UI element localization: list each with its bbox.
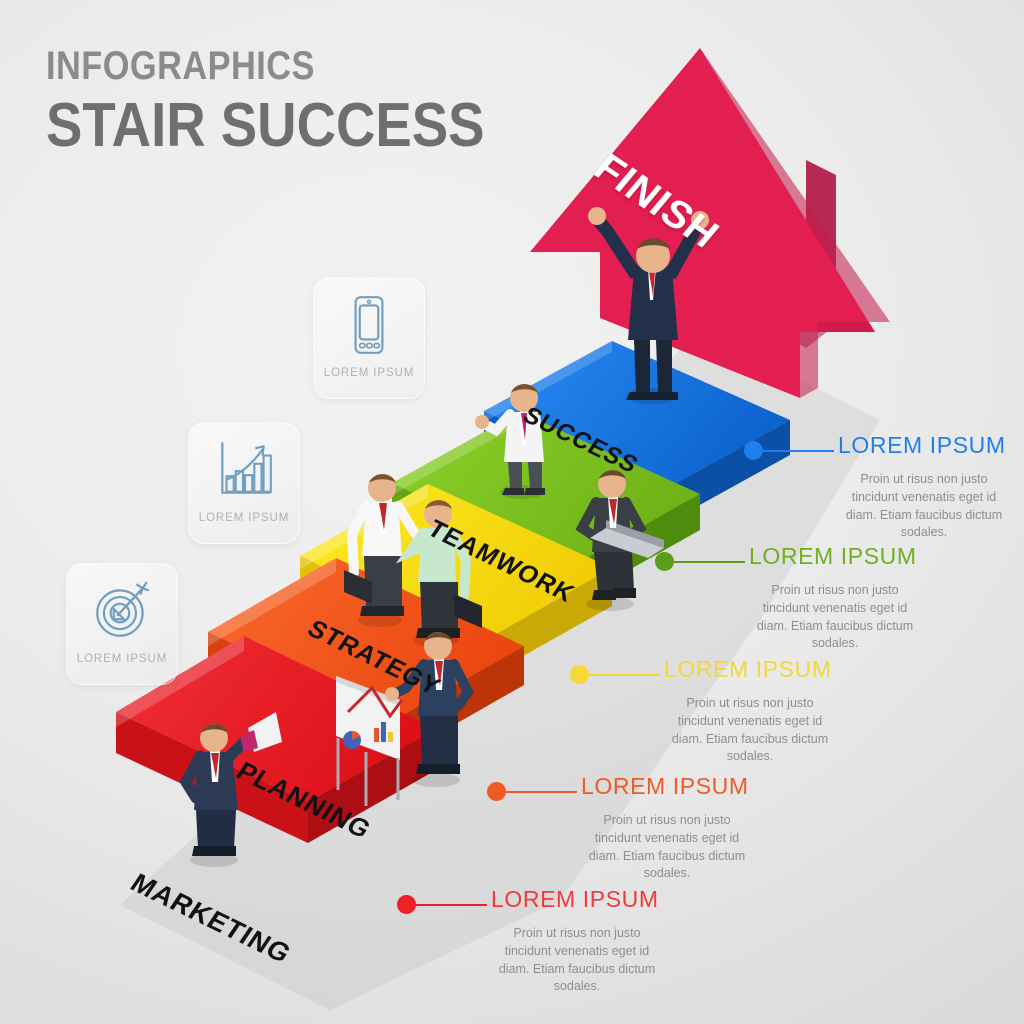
- legend-line-orange: [505, 791, 577, 793]
- legend-dot-yellow: [570, 665, 589, 684]
- legend-dot-orange: [487, 782, 506, 801]
- legend-line-yellow: [588, 674, 660, 676]
- legend-dot-green: [655, 552, 674, 571]
- smartphone-icon: [336, 292, 402, 358]
- feature-card-label: LOREM IPSUM: [324, 367, 414, 379]
- legend-item-marketing[interactable]: LOREM IPSUM Proin ut risus non justo tin…: [397, 894, 665, 996]
- legend-line-red: [415, 904, 487, 906]
- legend-item-teamwork[interactable]: LOREM IPSUM Proin ut risus non justo tin…: [655, 551, 923, 653]
- legend-item-strategy[interactable]: LOREM IPSUM Proin ut risus non justo tin…: [570, 664, 838, 766]
- legend-title: LOREM IPSUM: [664, 656, 832, 683]
- feature-card-label: LOREM IPSUM: [199, 512, 289, 524]
- legend-body: Proin ut risus non justo tincidunt venen…: [662, 695, 838, 766]
- feature-card-smartphone[interactable]: LOREM IPSUM: [313, 277, 425, 399]
- infographic-canvas: INFOGRAPHICS STAIR SUCCESS: [0, 0, 1024, 1024]
- legend-connector-row: LOREM IPSUM: [744, 440, 1012, 462]
- legend-dot-red: [397, 895, 416, 914]
- legend-title: LOREM IPSUM: [749, 543, 917, 570]
- legend-title: LOREM IPSUM: [491, 886, 659, 913]
- legend-connector-row: LOREM IPSUM: [487, 781, 755, 803]
- legend-body: Proin ut risus non justo tincidunt venen…: [489, 925, 665, 996]
- legend-body: Proin ut risus non justo tincidunt venen…: [836, 471, 1012, 542]
- legend-title: LOREM IPSUM: [838, 432, 1006, 459]
- legend-connector-row: LOREM IPSUM: [570, 664, 838, 686]
- feature-card-label: LOREM IPSUM: [77, 653, 167, 665]
- target-arrow-icon: [89, 578, 155, 644]
- legend-connector-row: LOREM IPSUM: [397, 894, 665, 916]
- legend-item-success[interactable]: LOREM IPSUM Proin ut risus non justo tin…: [744, 440, 1012, 542]
- legend-connector-row: LOREM IPSUM: [655, 551, 923, 573]
- feature-card-target[interactable]: LOREM IPSUM: [66, 563, 178, 685]
- legend-body: Proin ut risus non justo tincidunt venen…: [747, 582, 923, 653]
- growth-chart-icon: [211, 437, 277, 503]
- legend-title: LOREM IPSUM: [581, 773, 749, 800]
- legend-body: Proin ut risus non justo tincidunt venen…: [579, 812, 755, 883]
- legend-item-planning[interactable]: LOREM IPSUM Proin ut risus non justo tin…: [487, 781, 755, 883]
- feature-card-growth-chart[interactable]: LOREM IPSUM: [188, 422, 300, 544]
- legend-line-green: [673, 561, 745, 563]
- legend-line-blue: [762, 450, 834, 452]
- legend-dot-blue: [744, 441, 763, 460]
